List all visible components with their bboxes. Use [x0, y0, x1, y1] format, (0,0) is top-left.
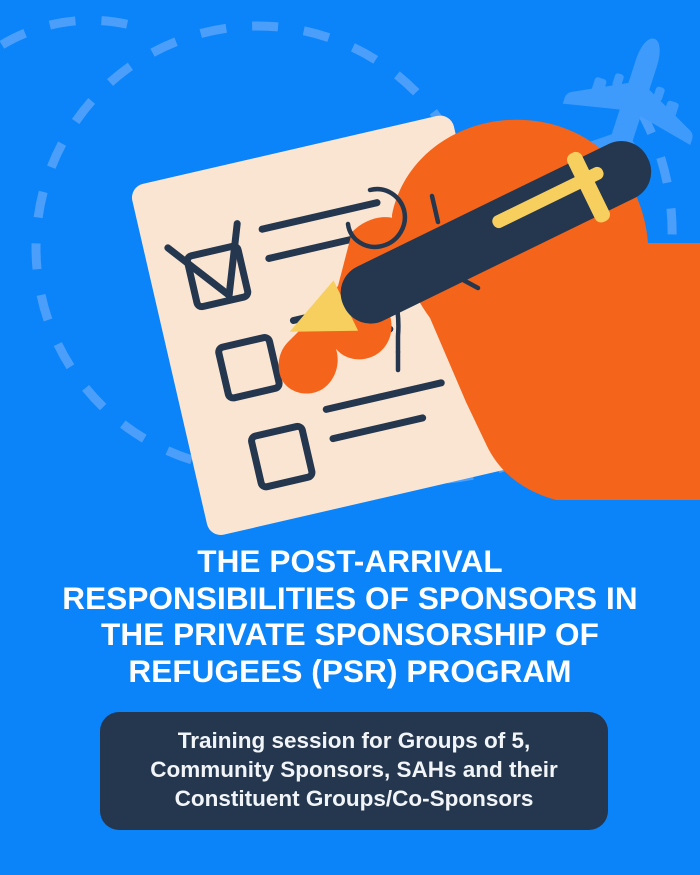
subtitle-text: Training session for Groups of 5, Commun…	[150, 726, 558, 813]
title-block: THE POST-ARRIVAL RESPONSIBILITIES OF SPO…	[40, 543, 660, 689]
subtitle-panel: Training session for Groups of 5, Commun…	[100, 712, 608, 830]
page-title: THE POST-ARRIVAL RESPONSIBILITIES OF SPO…	[40, 543, 660, 689]
poster-canvas: THE POST-ARRIVAL RESPONSIBILITIES OF SPO…	[0, 0, 700, 875]
